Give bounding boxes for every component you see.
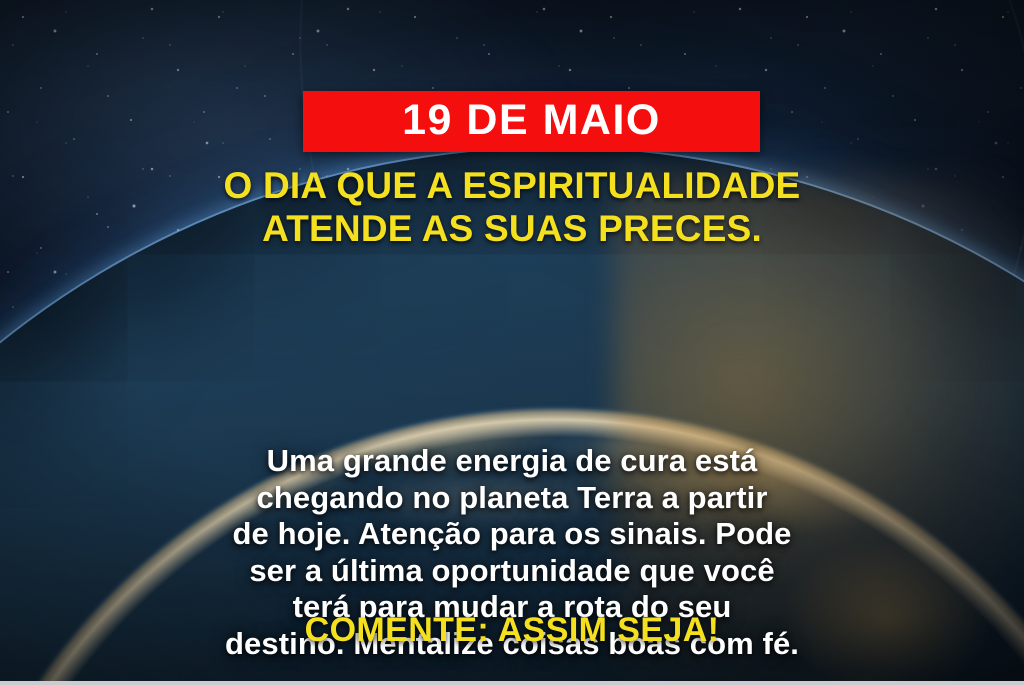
- headline-line-1: O DIA QUE A ESPIRITUALIDADE: [48, 164, 976, 207]
- date-banner: 19 DE MAIO: [303, 91, 760, 152]
- headline-line-2: ATENDE AS SUAS PRECES.: [48, 207, 976, 250]
- body-line-1: Uma grande energia de cura está: [40, 443, 984, 480]
- call-to-action: COMENTE: ASSIM SEJA!: [0, 613, 1024, 647]
- poster-content: 19 DE MAIO O DIA QUE A ESPIRITUALIDADE A…: [0, 0, 1024, 685]
- body-line-4: ser a última oportunidade que você: [40, 553, 984, 590]
- call-to-action-label: COMENTE: ASSIM SEJA!: [305, 611, 720, 649]
- date-banner-label: 19 DE MAIO: [402, 99, 661, 142]
- headline: O DIA QUE A ESPIRITUALIDADE ATENDE AS SU…: [0, 164, 1024, 251]
- body-line-3: de hoje. Atenção para os sinais. Pode: [40, 516, 984, 553]
- poster-image: 19 DE MAIO O DIA QUE A ESPIRITUALIDADE A…: [0, 0, 1024, 685]
- body-line-2: chegando no planeta Terra a partir: [40, 480, 984, 517]
- bottom-edge-strip: [0, 681, 1024, 685]
